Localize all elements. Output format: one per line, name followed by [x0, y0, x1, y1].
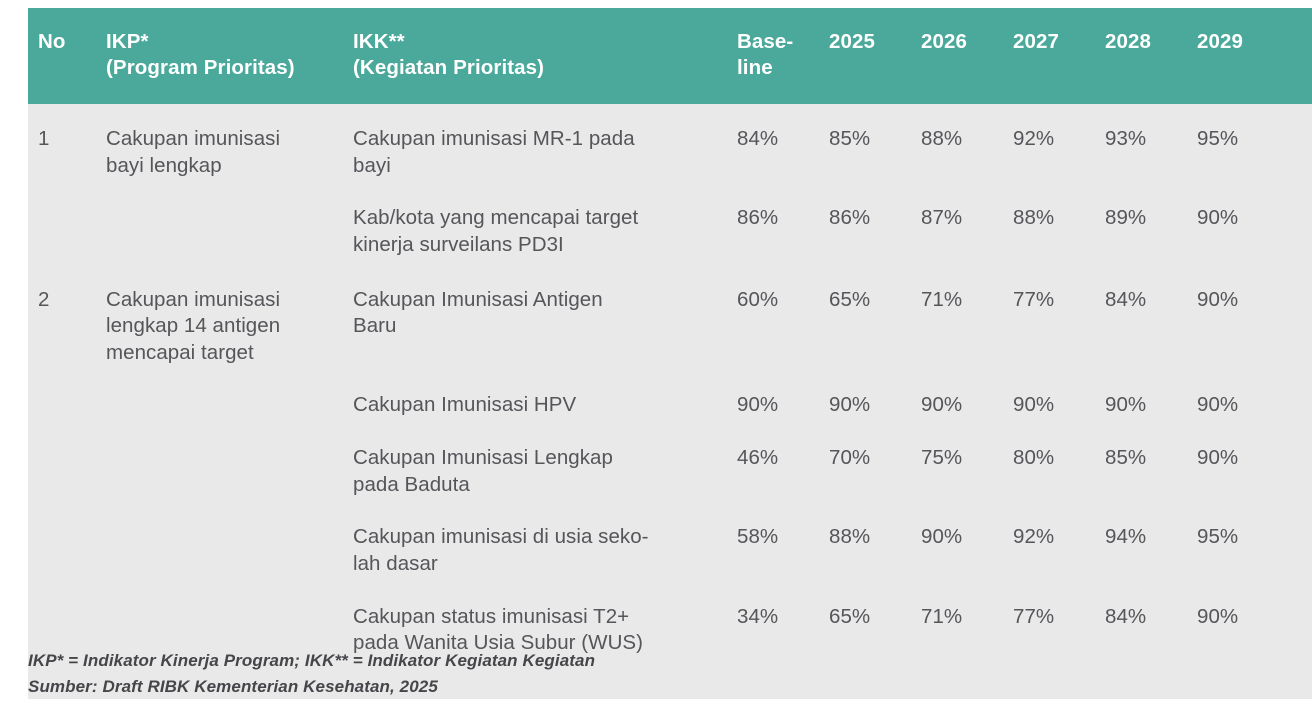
- cell-2029: 95%: [1193, 104, 1285, 179]
- cell-2029: 90%: [1193, 366, 1285, 419]
- cell-ikk: Cakupan Imunisasi HPV: [353, 366, 733, 419]
- column-header-2027: 2027: [1009, 8, 1101, 104]
- column-header-2026: 2026: [917, 8, 1009, 104]
- cell-no: [28, 498, 106, 577]
- cell-spacer: [1285, 259, 1312, 367]
- cell-ikp-line3: mencapai target: [106, 340, 337, 367]
- cell-2029: 95%: [1193, 498, 1285, 577]
- cell-no: [28, 419, 106, 498]
- cell-baseline: 90%: [733, 366, 825, 419]
- cell-2028: 85%: [1101, 419, 1193, 498]
- cell-ikk-line2: lah dasar: [353, 551, 719, 578]
- cell-no: 2: [28, 259, 106, 367]
- cell-2027: 90%: [1009, 366, 1101, 419]
- column-header-ikk: IKK** (Kegiatan Prioritas): [353, 8, 733, 104]
- cell-spacer: [1285, 498, 1312, 577]
- cell-2026: 71%: [917, 259, 1009, 367]
- column-header-ikp: IKP* (Program Prioritas): [106, 8, 353, 104]
- cell-2025: 85%: [825, 104, 917, 179]
- cell-spacer: [1285, 104, 1312, 179]
- column-header-2028-label: 2028: [1105, 30, 1151, 53]
- cell-2028: 84%: [1101, 578, 1193, 699]
- cell-2025: 65%: [825, 259, 917, 367]
- column-header-2027-label: 2027: [1013, 30, 1059, 53]
- footnote-abbreviations: IKP* = Indikator Kinerja Program; IKK** …: [28, 648, 1028, 674]
- cell-2025: 88%: [825, 498, 917, 577]
- immunization-targets-table-container: No IKP* (Program Prioritas) IKK** (Kegia…: [28, 8, 1276, 699]
- cell-spacer: [1285, 419, 1312, 498]
- column-header-2026-label: 2026: [921, 30, 967, 53]
- cell-ikp: [106, 498, 353, 577]
- cell-2026: 88%: [917, 104, 1009, 179]
- cell-2028: 84%: [1101, 259, 1193, 367]
- column-header-no: No: [28, 8, 106, 104]
- cell-ikk: Kab/kota yang mencapai target kinerja su…: [353, 179, 733, 258]
- cell-2028: 94%: [1101, 498, 1193, 577]
- cell-ikp-line2: lengkap 14 antigen: [106, 313, 337, 340]
- cell-ikk-line2: pada Baduta: [353, 472, 719, 499]
- cell-ikk-line1: Cakupan Imunisasi Antigen: [353, 287, 719, 314]
- table-footnotes: IKP* = Indikator Kinerja Program; IKK** …: [28, 648, 1028, 701]
- cell-2025: 86%: [825, 179, 917, 258]
- column-header-2025-label: 2025: [829, 30, 875, 53]
- table-body: 1 Cakupan imunisasi bayi lengkap Cakupan…: [28, 104, 1312, 699]
- cell-ikp: Cakupan imunisasi lengkap 14 antigen men…: [106, 259, 353, 367]
- cell-2027: 92%: [1009, 104, 1101, 179]
- cell-ikk: Cakupan imunisasi di usia seko- lah dasa…: [353, 498, 733, 577]
- table-row: Cakupan Imunisasi Lengkap pada Baduta 46…: [28, 419, 1312, 498]
- cell-2029: 90%: [1193, 578, 1285, 699]
- column-header-ikp-line2: (Program Prioritas): [106, 55, 353, 81]
- table-header: No IKP* (Program Prioritas) IKK** (Kegia…: [28, 8, 1312, 104]
- cell-2027: 77%: [1009, 259, 1101, 367]
- table-row: 1 Cakupan imunisasi bayi lengkap Cakupan…: [28, 104, 1312, 179]
- column-header-2029-label: 2029: [1197, 30, 1243, 53]
- cell-ikk-line1: Cakupan Imunisasi Lengkap: [353, 445, 719, 472]
- cell-2026: 75%: [917, 419, 1009, 498]
- cell-2027: 88%: [1009, 179, 1101, 258]
- cell-ikk-line1: Cakupan status imunisasi T2+: [353, 604, 719, 631]
- column-header-no-label: No: [38, 30, 66, 53]
- table-row: 2 Cakupan imunisasi lengkap 14 antigen m…: [28, 259, 1312, 367]
- cell-2029: 90%: [1193, 259, 1285, 367]
- cell-2028: 90%: [1101, 366, 1193, 419]
- column-header-2025: 2025: [825, 8, 917, 104]
- cell-ikp: Cakupan imunisasi bayi lengkap: [106, 104, 353, 179]
- cell-spacer: [1285, 179, 1312, 258]
- cell-2028: 93%: [1101, 104, 1193, 179]
- column-header-baseline: Base- line: [733, 8, 825, 104]
- cell-2026: 87%: [917, 179, 1009, 258]
- cell-ikk-line1: Cakupan Imunisasi HPV: [353, 392, 719, 419]
- column-header-ikk-line2: (Kegiatan Prioritas): [353, 55, 733, 81]
- cell-ikp-line1: Cakupan imunisasi: [106, 126, 337, 153]
- cell-baseline: 84%: [733, 104, 825, 179]
- cell-spacer: [1285, 578, 1312, 699]
- cell-ikp-line2: bayi lengkap: [106, 153, 337, 180]
- cell-baseline: 86%: [733, 179, 825, 258]
- cell-2025: 90%: [825, 366, 917, 419]
- column-header-spacer: [1285, 8, 1312, 104]
- column-header-ikk-line1: IKK**: [353, 29, 733, 55]
- cell-spacer: [1285, 366, 1312, 419]
- cell-ikk: Cakupan imunisasi MR-1 pada bayi: [353, 104, 733, 179]
- table-header-row: No IKP* (Program Prioritas) IKK** (Kegia…: [28, 8, 1312, 104]
- table-row: Kab/kota yang mencapai target kinerja su…: [28, 179, 1312, 258]
- cell-no: [28, 366, 106, 419]
- column-header-baseline-line2: line: [737, 55, 825, 81]
- column-header-ikp-line1: IKP*: [106, 29, 353, 55]
- cell-ikk-line1: Kab/kota yang mencapai target: [353, 205, 719, 232]
- cell-ikk: Cakupan Imunisasi Antigen Baru: [353, 259, 733, 367]
- cell-ikk-line2: Baru: [353, 313, 719, 340]
- cell-ikk: Cakupan Imunisasi Lengkap pada Baduta: [353, 419, 733, 498]
- cell-2025: 70%: [825, 419, 917, 498]
- cell-2026: 90%: [917, 366, 1009, 419]
- cell-2028: 89%: [1101, 179, 1193, 258]
- cell-ikp: [106, 366, 353, 419]
- cell-ikk-line1: Cakupan imunisasi MR-1 pada: [353, 126, 719, 153]
- cell-2026: 90%: [917, 498, 1009, 577]
- cell-baseline: 60%: [733, 259, 825, 367]
- cell-ikp: [106, 419, 353, 498]
- cell-2029: 90%: [1193, 179, 1285, 258]
- cell-2027: 80%: [1009, 419, 1101, 498]
- cell-ikk-line2: bayi: [353, 153, 719, 180]
- column-header-2028: 2028: [1101, 8, 1193, 104]
- cell-ikp: [106, 179, 353, 258]
- table-row: Cakupan Imunisasi HPV 90% 90% 90% 90% 90…: [28, 366, 1312, 419]
- table-row: Cakupan imunisasi di usia seko- lah dasa…: [28, 498, 1312, 577]
- cell-baseline: 46%: [733, 419, 825, 498]
- cell-no: 1: [28, 104, 106, 179]
- column-header-baseline-line1: Base-: [737, 29, 825, 55]
- cell-no: [28, 179, 106, 258]
- cell-ikp-line1: Cakupan imunisasi: [106, 287, 337, 314]
- cell-baseline: 58%: [733, 498, 825, 577]
- cell-2027: 92%: [1009, 498, 1101, 577]
- cell-2029: 90%: [1193, 419, 1285, 498]
- cell-ikk-line2: kinerja surveilans PD3I: [353, 232, 719, 259]
- footnote-source: Sumber: Draft RIBK Kementerian Kesehatan…: [28, 674, 1028, 700]
- column-header-2029: 2029: [1193, 8, 1285, 104]
- immunization-targets-table: No IKP* (Program Prioritas) IKK** (Kegia…: [28, 8, 1312, 699]
- cell-ikk-line1: Cakupan imunisasi di usia seko-: [353, 524, 719, 551]
